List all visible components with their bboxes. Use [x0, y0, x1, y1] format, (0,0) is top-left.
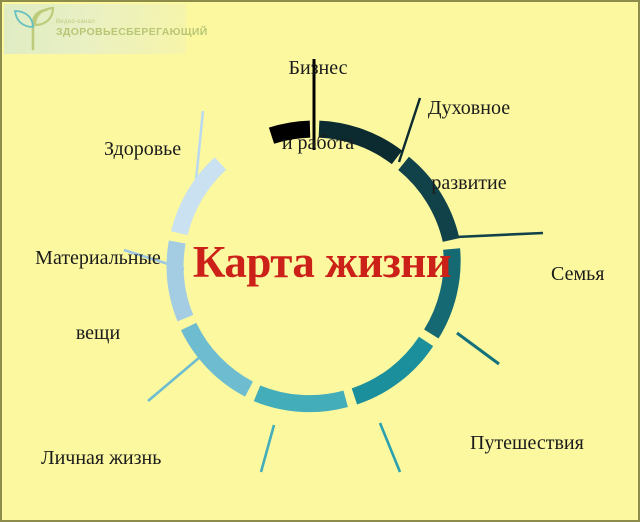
- segment-label-material-things[interactable]: Материальные вещи: [12, 196, 184, 396]
- segment-label-personal-life[interactable]: Личная жизнь: [41, 396, 221, 521]
- segment-label-travel-text: Путешествия: [470, 431, 630, 456]
- logo-title: ЗДОРОВЬЕСБЕРЕГАЮЩИЙ: [56, 26, 184, 39]
- segment-label-learning[interactable]: Обучение: [351, 486, 491, 522]
- segment-label-health-text: Здоровье: [104, 137, 244, 162]
- segment-label-family-text: Семья: [551, 262, 640, 287]
- segment-label-business-line2: и работа: [258, 131, 378, 156]
- segment-label-personal-life-text: Личная жизнь: [41, 446, 221, 471]
- segment-label-business[interactable]: Бизнес и работа: [258, 6, 378, 206]
- segment-label-material-line2: вещи: [12, 321, 184, 346]
- ring-segment-learning[interactable]: [354, 341, 426, 396]
- ring-segment-creativity[interactable]: [257, 393, 346, 403]
- segment-label-spiritual-line1: Духовное: [406, 96, 532, 121]
- life-map-infographic: Карта жизни Бизнес и работа Духовное раз…: [0, 0, 640, 522]
- segment-label-health[interactable]: Здоровье: [104, 87, 244, 212]
- channel-logo-watermark: Видео-канал ЗДОРОВЬЕСБЕРЕГАЮЩИЙ: [4, 4, 186, 54]
- leader-line-creativity: [261, 425, 274, 472]
- sprout-leaf-icon: [12, 7, 58, 51]
- ring-segment-travel[interactable]: [431, 249, 452, 334]
- segment-label-spiritual-line2: развитие: [406, 171, 532, 196]
- segment-label-material-line1: Материальные: [12, 246, 184, 271]
- segment-label-business-line1: Бизнес: [258, 56, 378, 81]
- segment-label-family[interactable]: Семья: [551, 212, 640, 337]
- leader-line-travel: [457, 333, 499, 364]
- segment-label-spiritual[interactable]: Духовное развитие: [406, 46, 532, 246]
- segment-label-travel[interactable]: Путешествия: [470, 381, 630, 506]
- leader-line-learning: [380, 423, 400, 472]
- logo-subtitle: Видео-канал: [56, 18, 184, 26]
